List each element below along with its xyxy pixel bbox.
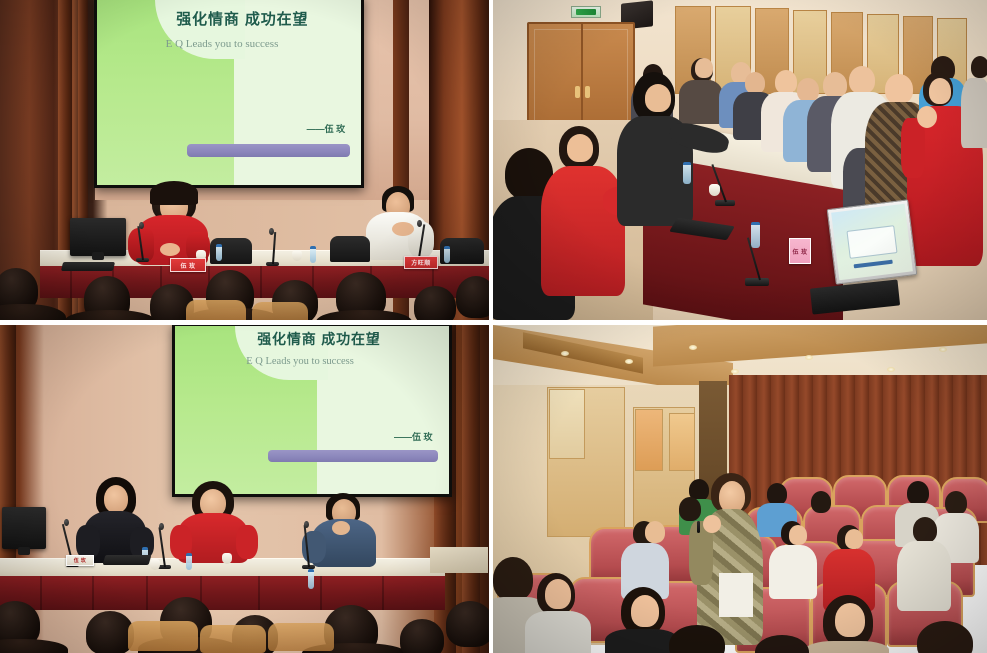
photo-collage: 强化情商 成功在望 E Q Leads you to success ——伍 玫: [0, 0, 987, 653]
slide-subtitle: E Q Leads you to success: [246, 356, 354, 367]
laptop[interactable]: [827, 199, 918, 284]
photo-panel-top-left[interactable]: 强化情商 成功在望 E Q Leads you to success ——伍 玫: [0, 0, 489, 320]
slide-accent-bar: [268, 450, 438, 462]
chair-back-foreground: [186, 300, 246, 320]
name-placard-host: 方旺顺: [404, 256, 438, 269]
exit-icon: [576, 9, 596, 15]
double-door: [527, 22, 635, 130]
name-placard-speaker: 伍 玫: [170, 258, 206, 272]
laptop-window: [847, 226, 897, 259]
slide-title: 强化情商 成功在望: [257, 329, 380, 349]
water-bottle: [216, 244, 222, 261]
projection-screen: 强化情商 成功在望 E Q Leads you to success ——伍 玫: [172, 325, 452, 497]
slide-author: ——伍 玫: [307, 122, 346, 135]
photo-panel-bottom-right[interactable]: [489, 320, 987, 653]
projection-screen: 强化情商 成功在望 E Q Leads you to success ——伍 玫: [94, 0, 364, 188]
desktop-monitor: [2, 507, 46, 549]
name-card-pink: 伍 玫: [789, 238, 811, 264]
lecture-hall-front-scene: 强化情商 成功在望 E Q Leads you to success ——伍 玫: [0, 0, 489, 320]
door-handle: [575, 86, 580, 98]
slide-author: ——伍 玫: [394, 430, 433, 443]
desktop-monitor: [70, 218, 126, 256]
slide-subtitle: E Q Leads you to success: [166, 38, 279, 50]
auditorium-qa-scene: [493, 325, 987, 653]
panel-discussion-scene: 强化情商 成功在望 E Q Leads you to success ——伍 玫: [0, 325, 489, 653]
presentation-slide: 强化情商 成功在望 E Q Leads you to success ——伍 玫: [97, 0, 361, 185]
exit-sign: [571, 6, 601, 18]
keyboard: [61, 262, 115, 271]
photo-panel-bottom-left[interactable]: 强化情商 成功在望 E Q Leads you to success ——伍 玫: [0, 320, 489, 653]
side-table: [430, 547, 488, 573]
name-placard: 伍 玫: [66, 555, 94, 566]
chair-back-2: [330, 236, 370, 262]
crowd-around-table-scene: 伍 玫: [493, 0, 987, 320]
photo-panel-top-right[interactable]: 伍 玫: [489, 0, 987, 320]
audience-head: [414, 286, 456, 320]
slide-title: 强化情商 成功在望: [176, 8, 308, 29]
paper-cup-2: [292, 250, 302, 261]
water-bottle-2: [310, 246, 316, 263]
monitor-stand: [92, 252, 104, 260]
audience-head: [456, 276, 489, 318]
head-table-skirt: [0, 576, 445, 610]
presentation-slide: 强化情商 成功在望 E Q Leads you to success ——伍 玫: [175, 326, 449, 494]
water-bottle-3: [444, 246, 450, 263]
chair-back-foreground: [252, 302, 308, 320]
door-handle: [585, 86, 590, 98]
laptop-screen: [831, 204, 913, 281]
slide-accent-bar: [187, 144, 351, 157]
